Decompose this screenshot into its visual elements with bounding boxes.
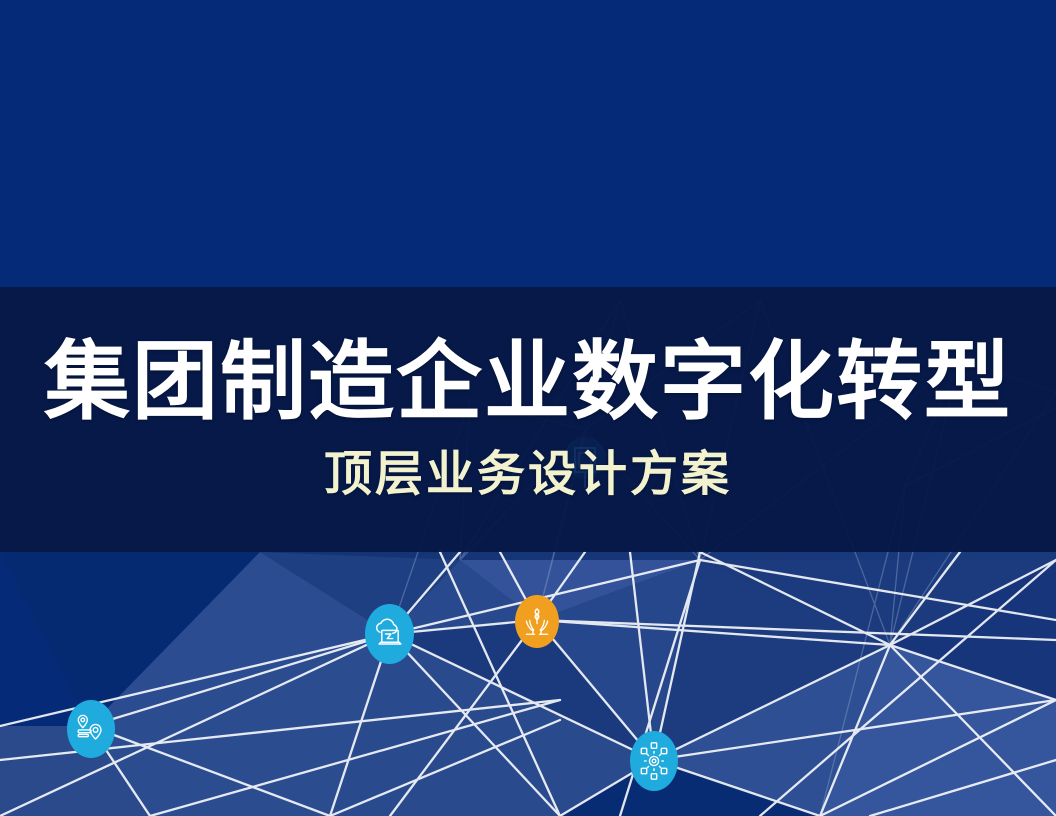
hands-wheat-icon (519, 604, 555, 640)
node-network-topology[interactable] (630, 731, 678, 791)
node-agriculture[interactable] (515, 595, 559, 648)
location-pin-icon (71, 709, 111, 749)
title-block: 集团制造企业数字化转型 顶层业务设计方案 (0, 287, 1056, 552)
node-cloud-computing[interactable] (365, 604, 414, 664)
top-color-band (0, 0, 1056, 287)
page-subtitle: 顶层业务设计方案 (324, 449, 732, 502)
node-location-pin[interactable] (67, 700, 115, 758)
page-title: 集团制造企业数字化转型 (44, 337, 1012, 427)
network-gear-icon (634, 741, 674, 781)
cloud-laptop-icon (370, 614, 410, 654)
cover-slide: 集团制造企业数字化转型 顶层业务设计方案 (0, 0, 1056, 816)
